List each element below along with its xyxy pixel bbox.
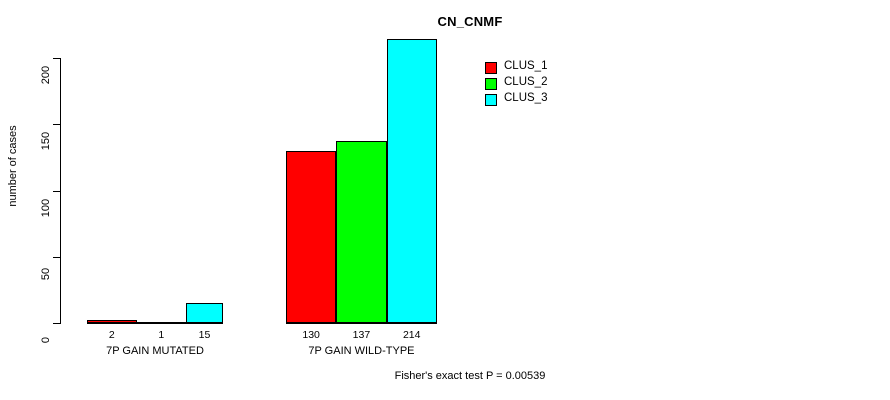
chart-canvas: CN_CNMF number of cases 050100150200 211… <box>0 0 890 400</box>
statistical-annotation: Fisher's exact test P = 0.00539 <box>25 370 890 382</box>
legend-item-label: CLUS_1 <box>504 60 547 72</box>
group-baseline <box>286 323 437 324</box>
legend-color-swatch <box>485 94 497 106</box>
group-baseline <box>87 323 223 324</box>
legend-item-label: CLUS_3 <box>504 92 547 104</box>
y-axis-tick-mark <box>53 191 60 192</box>
y-axis-line <box>60 58 61 324</box>
bar-value-label: 15 <box>166 329 243 341</box>
y-axis-tick-mark <box>53 257 60 258</box>
bar <box>336 141 386 323</box>
y-axis-tick-mark <box>53 58 60 59</box>
chart-title: CN_CNMF <box>25 14 890 29</box>
y-axis-tick-mark <box>53 124 60 125</box>
legend-color-swatch <box>485 62 497 74</box>
bar <box>186 303 223 323</box>
bar <box>387 39 437 323</box>
y-axis-title: number of cases <box>7 106 19 226</box>
x-axis-group-label: 7P GAIN WILD-TYPE <box>251 345 471 357</box>
y-axis-tick-label: 200 <box>40 57 52 93</box>
y-axis-tick-mark <box>53 323 60 324</box>
bar <box>286 151 336 323</box>
legend-item-label: CLUS_2 <box>504 76 547 88</box>
y-axis-tick-label: 150 <box>40 123 52 159</box>
x-axis-group-label: 7P GAIN MUTATED <box>45 345 265 357</box>
y-axis-tick-label: 50 <box>40 256 52 292</box>
bar-value-label: 214 <box>367 329 457 341</box>
legend-color-swatch <box>485 78 497 90</box>
y-axis-tick-label: 100 <box>40 190 52 226</box>
